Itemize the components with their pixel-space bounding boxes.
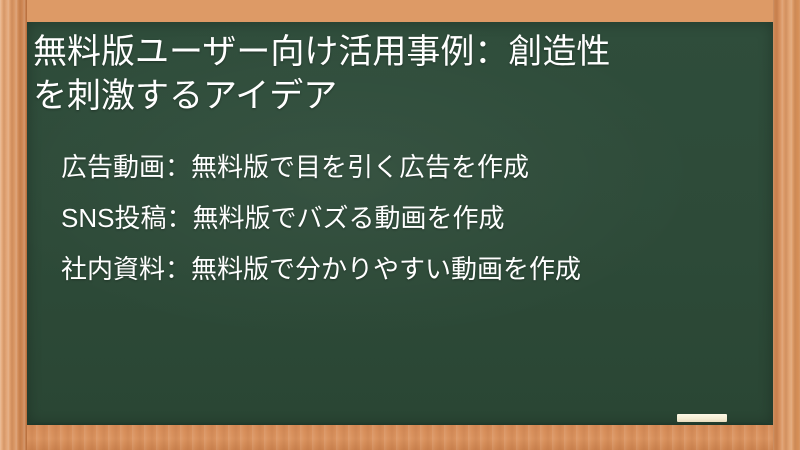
bullet-list: 広告動画：無料版で目を引く広告を作成 SNS投稿：無料版でバズる動画を作成 社内… [31,142,755,295]
page-title: 無料版ユーザー向け活用事例：創造性 を刺激するアイデア [31,30,755,118]
wood-frame-right [773,0,800,450]
list-item: SNS投稿：無料版でバズる動画を作成 [61,193,755,244]
wood-frame-top [0,0,800,22]
list-item: 広告動画：無料版で目を引く広告を作成 [61,142,755,193]
list-item: 社内資料：無料版で分かりやすい動画を作成 [61,244,755,295]
chalkboard-surface: 無料版ユーザー向け活用事例：創造性 を刺激するアイデア 広告動画：無料版で目を引… [27,22,773,425]
chalkboard-slide: 無料版ユーザー向け活用事例：創造性 を刺激するアイデア 広告動画：無料版で目を引… [0,0,800,450]
slide-content: 無料版ユーザー向け活用事例：創造性 を刺激するアイデア 広告動画：無料版で目を引… [27,22,773,425]
wood-frame-bottom [0,425,800,450]
board-ledge [27,422,773,425]
chalk-stick-icon [677,414,727,422]
wood-frame-left [0,0,27,450]
